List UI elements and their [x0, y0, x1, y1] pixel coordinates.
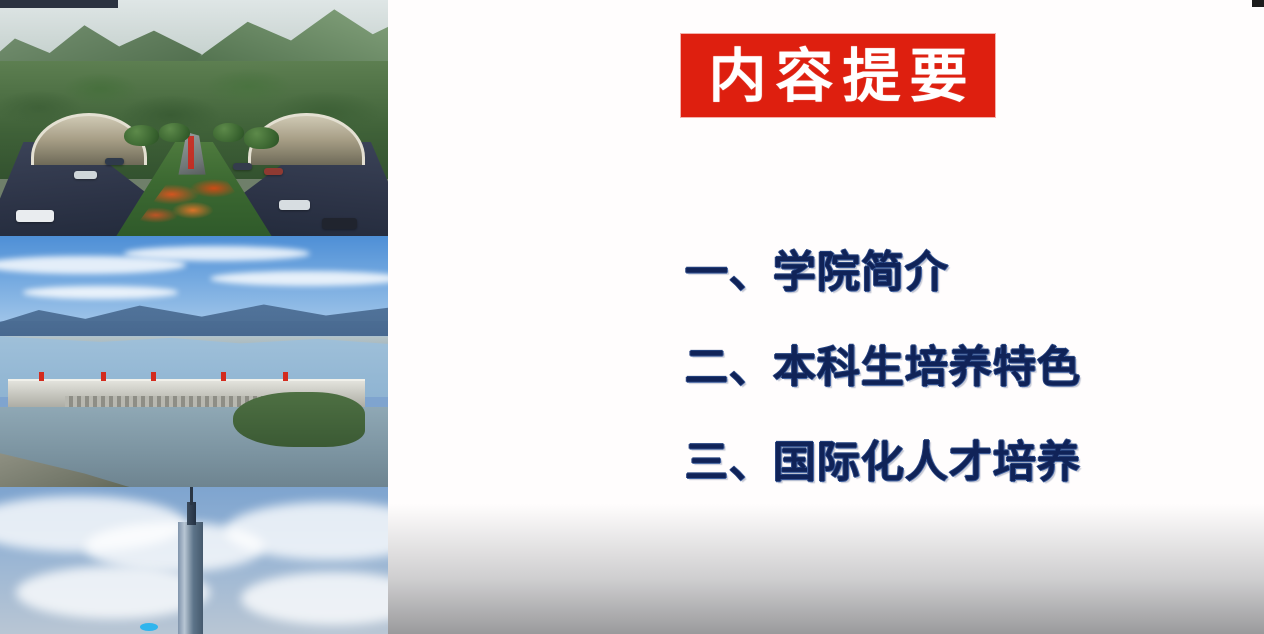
skyscraper-body: [178, 522, 203, 634]
car: [264, 168, 283, 175]
slide-title-banner: 内容提要: [681, 34, 995, 117]
strip-top-bar: [0, 0, 118, 8]
flag: [283, 372, 288, 381]
antenna-mast: [190, 487, 193, 505]
shrub: [244, 127, 279, 148]
presenter-video-strip[interactable]: [0, 0, 388, 634]
video-tile-highway[interactable]: [0, 0, 388, 236]
slide-title-text: 内容提要: [699, 47, 976, 105]
car: [74, 171, 97, 179]
shrub: [159, 123, 190, 142]
agenda-list: 一、学院简介 二、本科生培养特色 三、国际化人才培养: [685, 252, 1245, 485]
overlay-blip: [140, 623, 158, 631]
agenda-item-1: 一、学院简介: [685, 252, 1245, 295]
car: [16, 210, 55, 222]
car: [233, 163, 252, 170]
shrub: [213, 123, 244, 142]
flag: [151, 372, 156, 381]
skyscraper-crown: [187, 502, 196, 526]
green-island: [233, 392, 365, 447]
agenda-item-2: 二、本科生培养特色: [685, 347, 1245, 390]
slide-bottom-gradient: [388, 504, 1264, 634]
flag: [39, 372, 44, 381]
slide-panel: 内容提要 一、学院简介 二、本科生培养特色 三、国际化人才培养: [388, 0, 1264, 634]
flag: [101, 372, 106, 381]
corner-marker: [1252, 0, 1264, 7]
agenda-item-3: 三、国际化人才培养: [685, 442, 1245, 485]
presentation-screen: 内容提要 一、学院简介 二、本科生培养特色 三、国际化人才培养: [0, 0, 1264, 634]
car: [322, 218, 357, 229]
cloud: [23, 286, 178, 299]
flag: [221, 372, 226, 381]
cloud: [124, 246, 310, 261]
video-tile-skyscraper[interactable]: [0, 487, 388, 634]
car: [105, 158, 124, 165]
shrub: [124, 125, 159, 146]
video-tile-dam[interactable]: [0, 236, 388, 487]
car: [279, 200, 310, 210]
